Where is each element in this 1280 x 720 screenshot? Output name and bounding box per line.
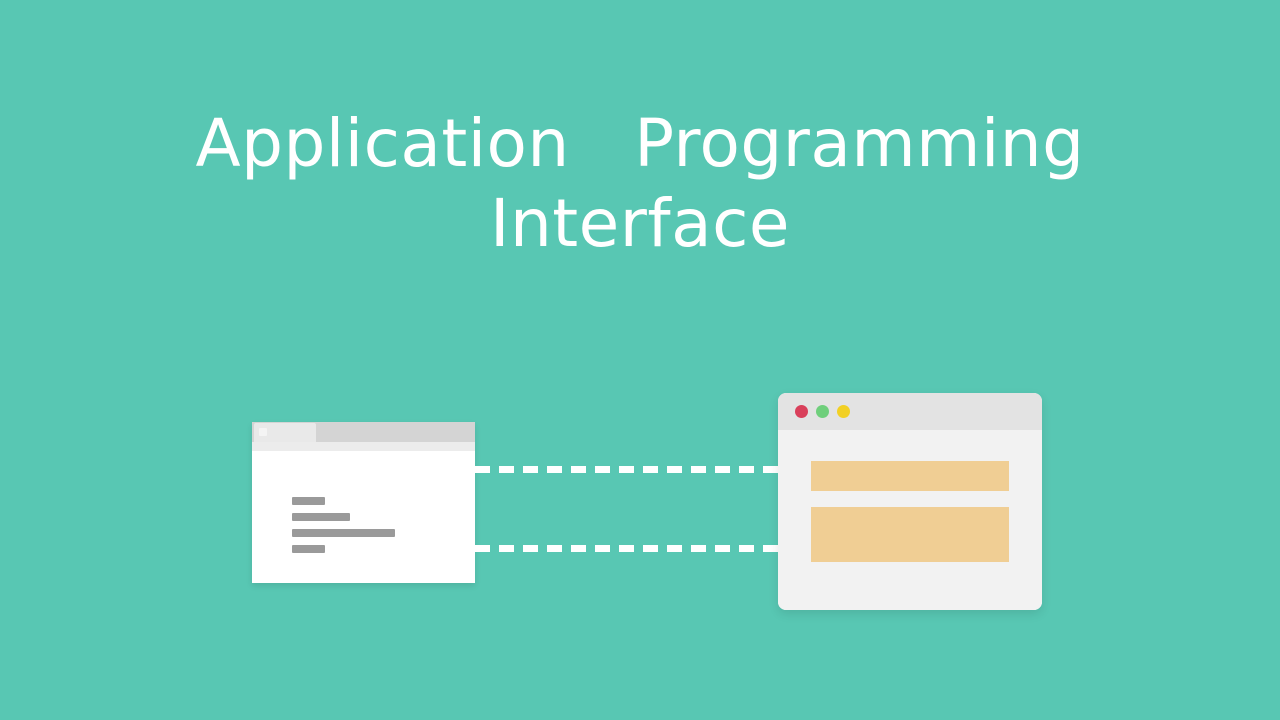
- page-title-line-2: Interface: [0, 184, 1280, 264]
- page-title-line-1: Application Programming: [0, 104, 1280, 184]
- api-request-line: [475, 466, 778, 473]
- left-window-toolbar: [252, 442, 475, 451]
- right-window-body: [778, 430, 1042, 610]
- browser-tab[interactable]: [254, 423, 316, 442]
- content-block-1: [811, 461, 1009, 491]
- maximize-dot-icon[interactable]: [837, 405, 850, 418]
- code-line-3: [292, 529, 395, 537]
- consumer-browser-window: [778, 393, 1042, 610]
- api-response-line: [475, 545, 778, 552]
- code-line-1: [292, 497, 325, 505]
- right-window-titlebar: [778, 393, 1042, 430]
- left-window-titlebar: [252, 422, 475, 442]
- content-block-2: [811, 507, 1009, 562]
- code-line-4: [292, 545, 325, 553]
- slide-canvas: Application Programming Interface: [0, 0, 1280, 720]
- page-title: Application Programming Interface: [0, 104, 1280, 264]
- source-application-window: [252, 422, 475, 583]
- code-line-2: [292, 513, 350, 521]
- minimize-dot-icon[interactable]: [816, 405, 829, 418]
- traffic-lights-group: [795, 405, 850, 418]
- favicon-icon: [259, 428, 267, 436]
- close-dot-icon[interactable]: [795, 405, 808, 418]
- left-window-body: [252, 451, 475, 583]
